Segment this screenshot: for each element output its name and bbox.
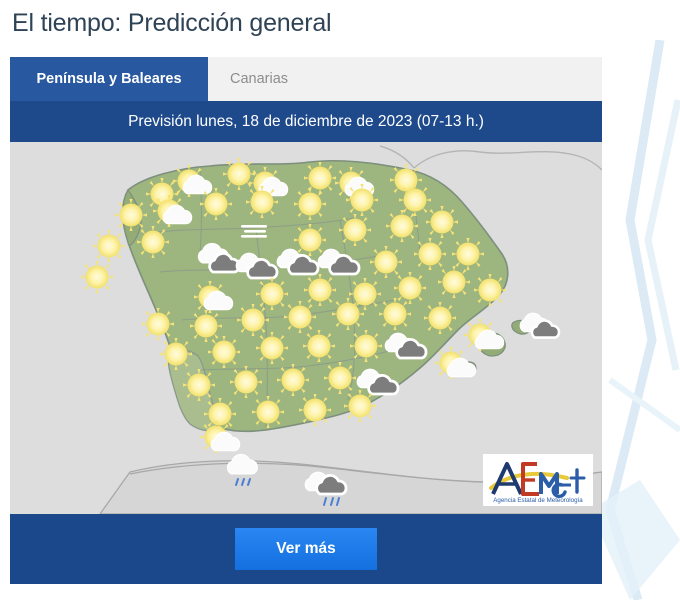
- tab-bar: Península y Baleares Canarias: [10, 57, 602, 101]
- background-watermark: [590, 40, 680, 600]
- fog-icon: [241, 225, 267, 238]
- aemet-subtitle: Agencia Estatal de Meteorología: [493, 497, 583, 504]
- forecast-card: Península y Baleares Canarias Previsión …: [10, 57, 602, 584]
- tab-canarias[interactable]: Canarias: [208, 57, 310, 101]
- ver-mas-button[interactable]: Ver más: [235, 528, 377, 570]
- page-title: El tiempo: Predicción general: [12, 6, 331, 40]
- weather-map[interactable]: Agencia Estatal de Meteorología: [10, 142, 602, 514]
- forecast-date-text: Previsión lunes, 18 de diciembre de 2023…: [128, 113, 484, 131]
- tab-peninsula-baleares[interactable]: Península y Baleares: [10, 57, 208, 101]
- forecast-date-strip: Previsión lunes, 18 de diciembre de 2023…: [10, 101, 602, 142]
- aemet-logo: Agencia Estatal de Meteorología: [483, 454, 593, 506]
- weather-widget-root: El tiempo: Predicción general Península …: [0, 0, 680, 600]
- card-footer: Ver más: [10, 514, 602, 584]
